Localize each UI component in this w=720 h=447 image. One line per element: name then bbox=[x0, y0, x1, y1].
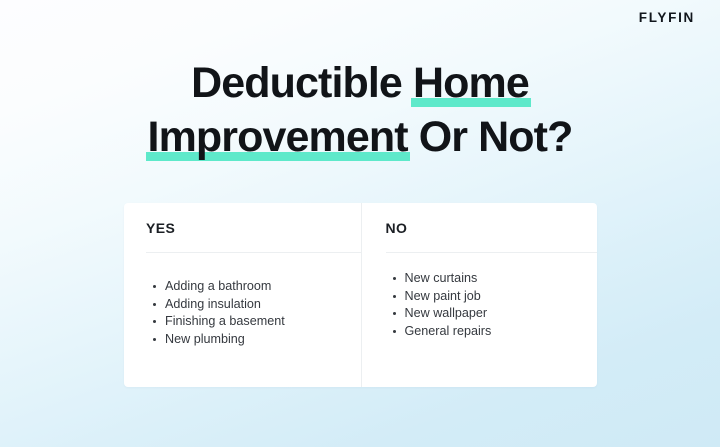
list-item: General repairs bbox=[405, 323, 598, 341]
bullet-icon bbox=[153, 285, 156, 288]
bullet-icon bbox=[393, 330, 396, 333]
list-item: Adding a bathroom bbox=[165, 278, 361, 296]
bullet-icon bbox=[393, 312, 396, 315]
page-title-highlight-improvement: Improvement bbox=[148, 110, 408, 164]
list-item: New paint job bbox=[405, 288, 598, 306]
column-header-no: NO bbox=[386, 203, 598, 253]
page-title-line-2: Improvement Or Not? bbox=[0, 110, 720, 164]
comparison-card: YES Adding a bathroom Adding insulation … bbox=[124, 203, 597, 387]
bullet-icon bbox=[153, 320, 156, 323]
list-no: New curtains New paint job New wallpaper… bbox=[386, 270, 598, 340]
column-yes: YES Adding a bathroom Adding insulation … bbox=[124, 203, 361, 387]
column-body-yes: Adding a bathroom Adding insulation Fini… bbox=[146, 253, 361, 387]
page-title-line-1-plain: Deductible bbox=[191, 59, 413, 107]
slide-canvas: FLYFIN Deductible Home Improvement Or No… bbox=[0, 0, 720, 447]
page-title-highlight-home: Home bbox=[413, 56, 529, 110]
list-item: Adding insulation bbox=[165, 296, 361, 314]
list-yes: Adding a bathroom Adding insulation Fini… bbox=[146, 278, 361, 348]
list-item-label: New wallpaper bbox=[405, 306, 488, 320]
page-title: Deductible Home Improvement Or Not? bbox=[0, 56, 720, 164]
bullet-icon bbox=[393, 295, 396, 298]
bullet-icon bbox=[393, 277, 396, 280]
bullet-icon bbox=[153, 303, 156, 306]
list-item-label: New plumbing bbox=[165, 332, 245, 346]
list-item-label: Finishing a basement bbox=[165, 314, 285, 328]
list-item-label: General repairs bbox=[405, 324, 492, 338]
column-body-no: New curtains New paint job New wallpaper… bbox=[386, 253, 598, 387]
list-item: New curtains bbox=[405, 270, 598, 288]
list-item-label: Adding a bathroom bbox=[165, 279, 271, 293]
list-item-label: Adding insulation bbox=[165, 297, 261, 311]
page-title-line-2-plain: Or Not? bbox=[408, 113, 573, 161]
flyfin-logo: FLYFIN bbox=[639, 11, 695, 25]
list-item: New wallpaper bbox=[405, 305, 598, 323]
list-item: New plumbing bbox=[165, 331, 361, 349]
column-header-yes: YES bbox=[146, 203, 361, 253]
bullet-icon bbox=[153, 338, 156, 341]
page-title-line-1: Deductible Home bbox=[0, 56, 720, 110]
column-no: NO New curtains New paint job New wallpa… bbox=[361, 203, 598, 387]
list-item: Finishing a basement bbox=[165, 313, 361, 331]
list-item-label: New paint job bbox=[405, 289, 481, 303]
list-item-label: New curtains bbox=[405, 271, 478, 285]
